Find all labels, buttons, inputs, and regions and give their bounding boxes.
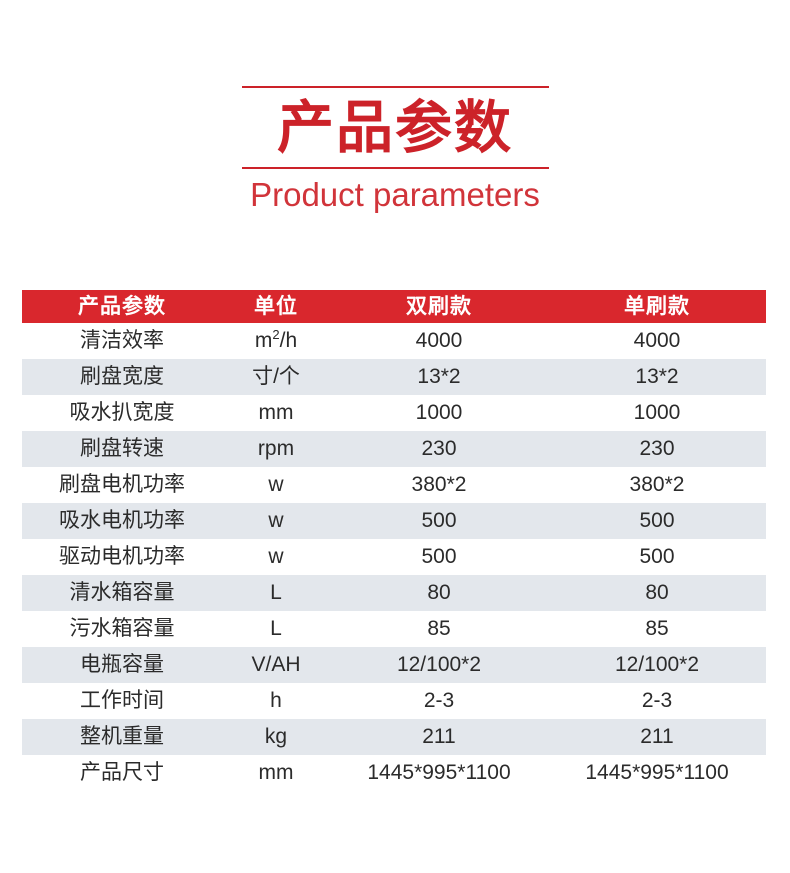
table-row: 驱动电机功率w500500 <box>22 539 766 575</box>
cell-dual-brush: 80 <box>330 575 548 611</box>
cell-dual-brush: 211 <box>330 719 548 755</box>
cell-single-brush: 230 <box>548 431 766 467</box>
cell-dual-brush: 500 <box>330 539 548 575</box>
product-parameters-table: 产品参数 单位 双刷款 单刷款 清洁效率m2/h40004000刷盘宽度寸/个1… <box>22 290 766 791</box>
cell-unit: mm <box>222 755 330 791</box>
cell-dual-brush: 1445*995*1100 <box>330 755 548 791</box>
title-bottom-rule <box>242 167 549 169</box>
cell-dual-brush: 85 <box>330 611 548 647</box>
cell-single-brush: 4000 <box>548 323 766 359</box>
column-header-single: 单刷款 <box>548 290 766 323</box>
table-row: 电瓶容量V/AH12/100*212/100*2 <box>22 647 766 683</box>
cell-param: 整机重量 <box>22 719 222 755</box>
table-row: 污水箱容量L8585 <box>22 611 766 647</box>
cell-unit: mm <box>222 395 330 431</box>
table-header: 产品参数 单位 双刷款 单刷款 <box>22 290 766 323</box>
title-top-rule <box>242 86 549 88</box>
cell-dual-brush: 1000 <box>330 395 548 431</box>
cell-single-brush: 80 <box>548 575 766 611</box>
column-header-unit: 单位 <box>222 290 330 323</box>
cell-param: 清洁效率 <box>22 323 222 359</box>
page-title-chinese: 产品参数 <box>0 91 790 165</box>
table-row: 吸水电机功率w500500 <box>22 503 766 539</box>
cell-unit: h <box>222 683 330 719</box>
cell-single-brush: 500 <box>548 539 766 575</box>
cell-single-brush: 2-3 <box>548 683 766 719</box>
table-body: 清洁效率m2/h40004000刷盘宽度寸/个13*213*2吸水扒宽度mm10… <box>22 323 766 791</box>
cell-dual-brush: 380*2 <box>330 467 548 503</box>
table-row: 清水箱容量L8080 <box>22 575 766 611</box>
table-row: 吸水扒宽度mm10001000 <box>22 395 766 431</box>
cell-single-brush: 12/100*2 <box>548 647 766 683</box>
cell-dual-brush: 13*2 <box>330 359 548 395</box>
cell-param: 吸水扒宽度 <box>22 395 222 431</box>
cell-param: 吸水电机功率 <box>22 503 222 539</box>
cell-single-brush: 1000 <box>548 395 766 431</box>
cell-unit: rpm <box>222 431 330 467</box>
cell-single-brush: 380*2 <box>548 467 766 503</box>
cell-single-brush: 13*2 <box>548 359 766 395</box>
column-header-dual: 双刷款 <box>330 290 548 323</box>
page-title-english: Product parameters <box>0 173 790 217</box>
table-row: 产品尺寸mm1445*995*11001445*995*1100 <box>22 755 766 791</box>
column-header-param: 产品参数 <box>22 290 222 323</box>
page-title-block: 产品参数 Product parameters <box>0 86 790 217</box>
cell-dual-brush: 500 <box>330 503 548 539</box>
cell-param: 污水箱容量 <box>22 611 222 647</box>
cell-dual-brush: 2-3 <box>330 683 548 719</box>
cell-unit: w <box>222 467 330 503</box>
cell-param: 驱动电机功率 <box>22 539 222 575</box>
table-row: 刷盘宽度寸/个13*213*2 <box>22 359 766 395</box>
table-header-row: 产品参数 单位 双刷款 单刷款 <box>22 290 766 323</box>
cell-param: 电瓶容量 <box>22 647 222 683</box>
cell-unit: w <box>222 539 330 575</box>
cell-dual-brush: 230 <box>330 431 548 467</box>
cell-unit: kg <box>222 719 330 755</box>
table-row: 清洁效率m2/h40004000 <box>22 323 766 359</box>
product-parameters-page: 产品参数 Product parameters 产品参数 单位 双刷款 单刷款 … <box>0 0 790 873</box>
cell-unit: w <box>222 503 330 539</box>
cell-single-brush: 85 <box>548 611 766 647</box>
cell-dual-brush: 4000 <box>330 323 548 359</box>
cell-unit: 寸/个 <box>222 359 330 395</box>
table-row: 刷盘转速rpm230230 <box>22 431 766 467</box>
table-row: 工作时间h2-32-3 <box>22 683 766 719</box>
cell-unit: V/AH <box>222 647 330 683</box>
cell-param: 刷盘电机功率 <box>22 467 222 503</box>
cell-dual-brush: 12/100*2 <box>330 647 548 683</box>
cell-param: 产品尺寸 <box>22 755 222 791</box>
cell-single-brush: 211 <box>548 719 766 755</box>
cell-unit: L <box>222 575 330 611</box>
cell-param: 清水箱容量 <box>22 575 222 611</box>
table-row: 刷盘电机功率w380*2380*2 <box>22 467 766 503</box>
cell-param: 刷盘转速 <box>22 431 222 467</box>
cell-param: 工作时间 <box>22 683 222 719</box>
cell-single-brush: 500 <box>548 503 766 539</box>
cell-unit: m2/h <box>222 323 330 359</box>
table-row: 整机重量kg211211 <box>22 719 766 755</box>
cell-param: 刷盘宽度 <box>22 359 222 395</box>
cell-single-brush: 1445*995*1100 <box>548 755 766 791</box>
cell-unit: L <box>222 611 330 647</box>
